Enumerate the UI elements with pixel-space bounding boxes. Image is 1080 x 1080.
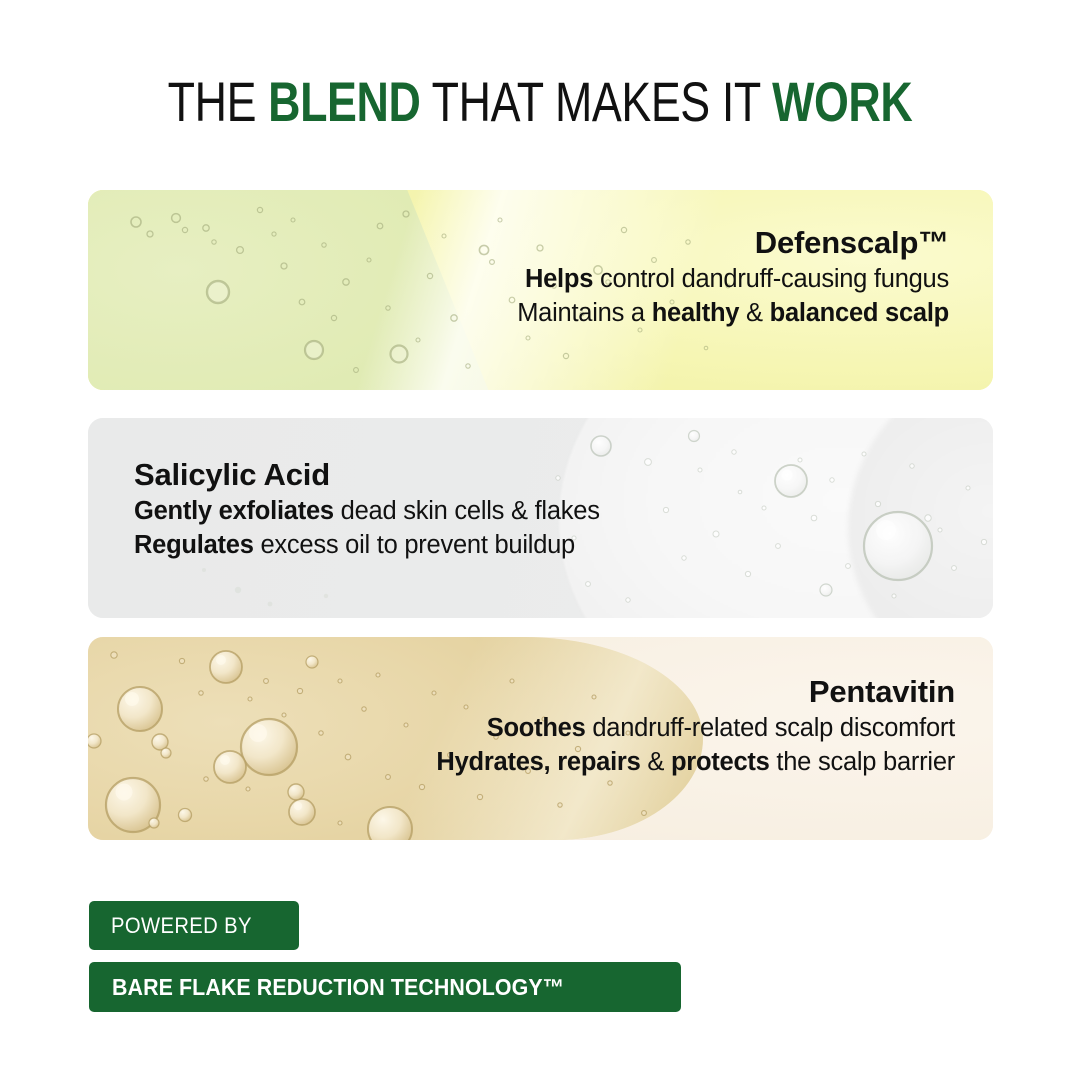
card-text-pentavitin: Pentavitin Soothes dandruff-related scal… — [436, 673, 955, 779]
card-line-1-salicylic-acid: Gently exfoliates dead skin cells & flak… — [134, 494, 600, 528]
card-title-salicylic-acid: Salicylic Acid — [134, 456, 600, 494]
card-line-1-defenscalp: Helps control dandruff-causing fungus — [517, 262, 949, 296]
ingredient-card-salicylic-acid: Salicylic Acid Gently exfoliates dead sk… — [88, 418, 993, 618]
ingredient-card-defenscalp: Defenscalp™ Helps control dandruff-causi… — [88, 190, 993, 390]
badge-powered-by: POWERED BY — [89, 901, 299, 950]
badge-technology-label: BARE FLAKE REDUCTION TECHNOLOGY™ — [112, 974, 564, 1001]
badge-powered-by-label: POWERED BY — [111, 913, 252, 939]
gel-blob-secondary — [848, 418, 993, 618]
card-line-2-pentavitin: Hydrates, repairs & protects the scalp b… — [436, 745, 955, 779]
card-text-defenscalp: Defenscalp™ Helps control dandruff-causi… — [517, 224, 949, 330]
card-text-salicylic-acid: Salicylic Acid Gently exfoliates dead sk… — [134, 456, 600, 562]
page-title: THE BLEND THAT MAKES IT WORK — [108, 70, 972, 134]
card-title-defenscalp: Defenscalp™ — [517, 224, 949, 262]
badge-technology: BARE FLAKE REDUCTION TECHNOLOGY™ — [89, 962, 681, 1012]
ingredient-card-pentavitin: Pentavitin Soothes dandruff-related scal… — [88, 637, 993, 840]
card-line-2-defenscalp: Maintains a healthy & balanced scalp — [517, 296, 949, 330]
card-line-2-salicylic-acid: Regulates excess oil to prevent buildup — [134, 528, 600, 562]
card-line-1-pentavitin: Soothes dandruff-related scalp discomfor… — [436, 711, 955, 745]
card-title-pentavitin: Pentavitin — [436, 673, 955, 711]
